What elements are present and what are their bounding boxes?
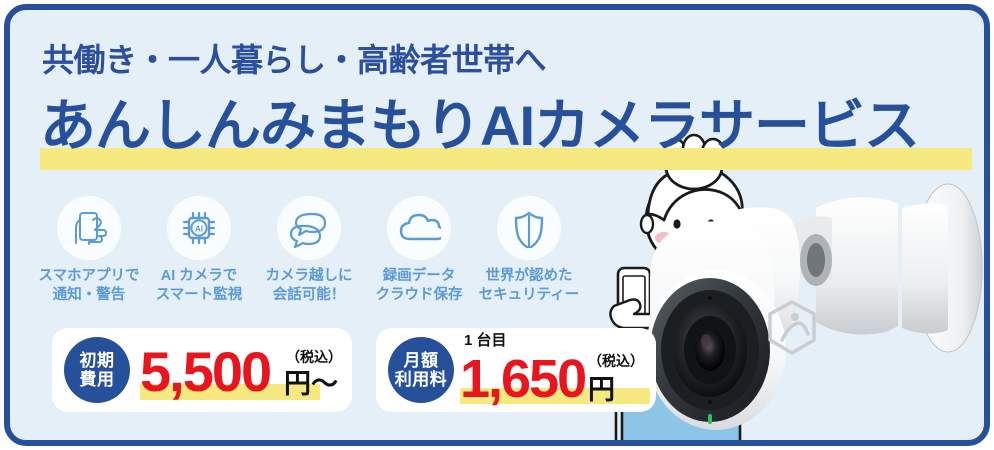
camera-logo-icon xyxy=(770,302,814,353)
feature-label: 世界が認めた セキュリティー xyxy=(479,267,580,304)
smartphone-hand-icon xyxy=(69,208,109,248)
banner-headline: あんしんみまもりAIカメラサービス xyxy=(40,98,919,154)
feature-item-security: 世界が認めた セキュリティー xyxy=(474,196,584,304)
feature-icon-wrapper xyxy=(497,196,561,260)
feature-icon-wrapper xyxy=(387,196,451,260)
security-camera-product xyxy=(646,184,982,430)
feature-icon-wrapper: AI xyxy=(167,196,231,260)
speech-bubbles-icon xyxy=(288,208,330,248)
price-amount-monthly-fee: 1,650 xyxy=(460,352,585,406)
ai-chip-icon: AI xyxy=(179,208,219,248)
price-card-initial-cost: 初期 費用 5,500 （税込） 円〜 xyxy=(52,328,352,412)
feature-icon-wrapper xyxy=(57,196,121,260)
price-amount-initial-cost: 5,500 xyxy=(140,344,270,400)
banner-frame: 共働き・一人暮らし・高齢者世帯へ あんしんみまもりAIカメラサービス スマホアプ… xyxy=(4,4,990,446)
tax-note: （税込） xyxy=(286,350,342,364)
feature-item-two-way-talk: カメラ越しに 会話可能！ xyxy=(254,196,364,304)
shield-icon xyxy=(509,208,549,248)
feature-label: カメラ越しに 会話可能！ xyxy=(266,267,353,304)
feature-list: スマホアプリで 通知・警告 AI xyxy=(34,196,584,304)
price-badge-initial-cost: 初期 費用 xyxy=(64,337,130,403)
price-card-monthly-fee: 月額 利用料 1 台目 1,650 （税込） 円 xyxy=(376,328,656,412)
yen-unit: 円 xyxy=(588,377,615,404)
feature-label: スマホアプリで 通知・警告 xyxy=(38,267,139,304)
feature-label: 録画データ クラウド保存 xyxy=(376,267,463,304)
yen-unit: 円〜 xyxy=(284,371,338,398)
svg-text:AI: AI xyxy=(195,225,203,234)
feature-item-smartphone-app: スマホアプリで 通知・警告 xyxy=(34,196,144,304)
feature-item-ai-camera: AI AI カメラで スマート監視 xyxy=(144,196,254,304)
promo-banner: 共働き・一人暮らし・高齢者世帯へ あんしんみまもりAIカメラサービス スマホアプ… xyxy=(0,0,994,450)
feature-icon-wrapper xyxy=(277,196,341,260)
unit-count-note: 1 台目 xyxy=(464,333,507,348)
cloud-icon xyxy=(397,208,441,248)
banner-subheadline: 共働き・一人暮らし・高齢者世帯へ xyxy=(42,44,546,76)
feature-item-cloud-storage: 録画データ クラウド保存 xyxy=(364,196,474,304)
feature-label: AI カメラで スマート監視 xyxy=(156,267,243,304)
tax-note: （税込） xyxy=(588,354,644,368)
price-badge-monthly-fee: 月額 利用料 xyxy=(388,337,454,403)
